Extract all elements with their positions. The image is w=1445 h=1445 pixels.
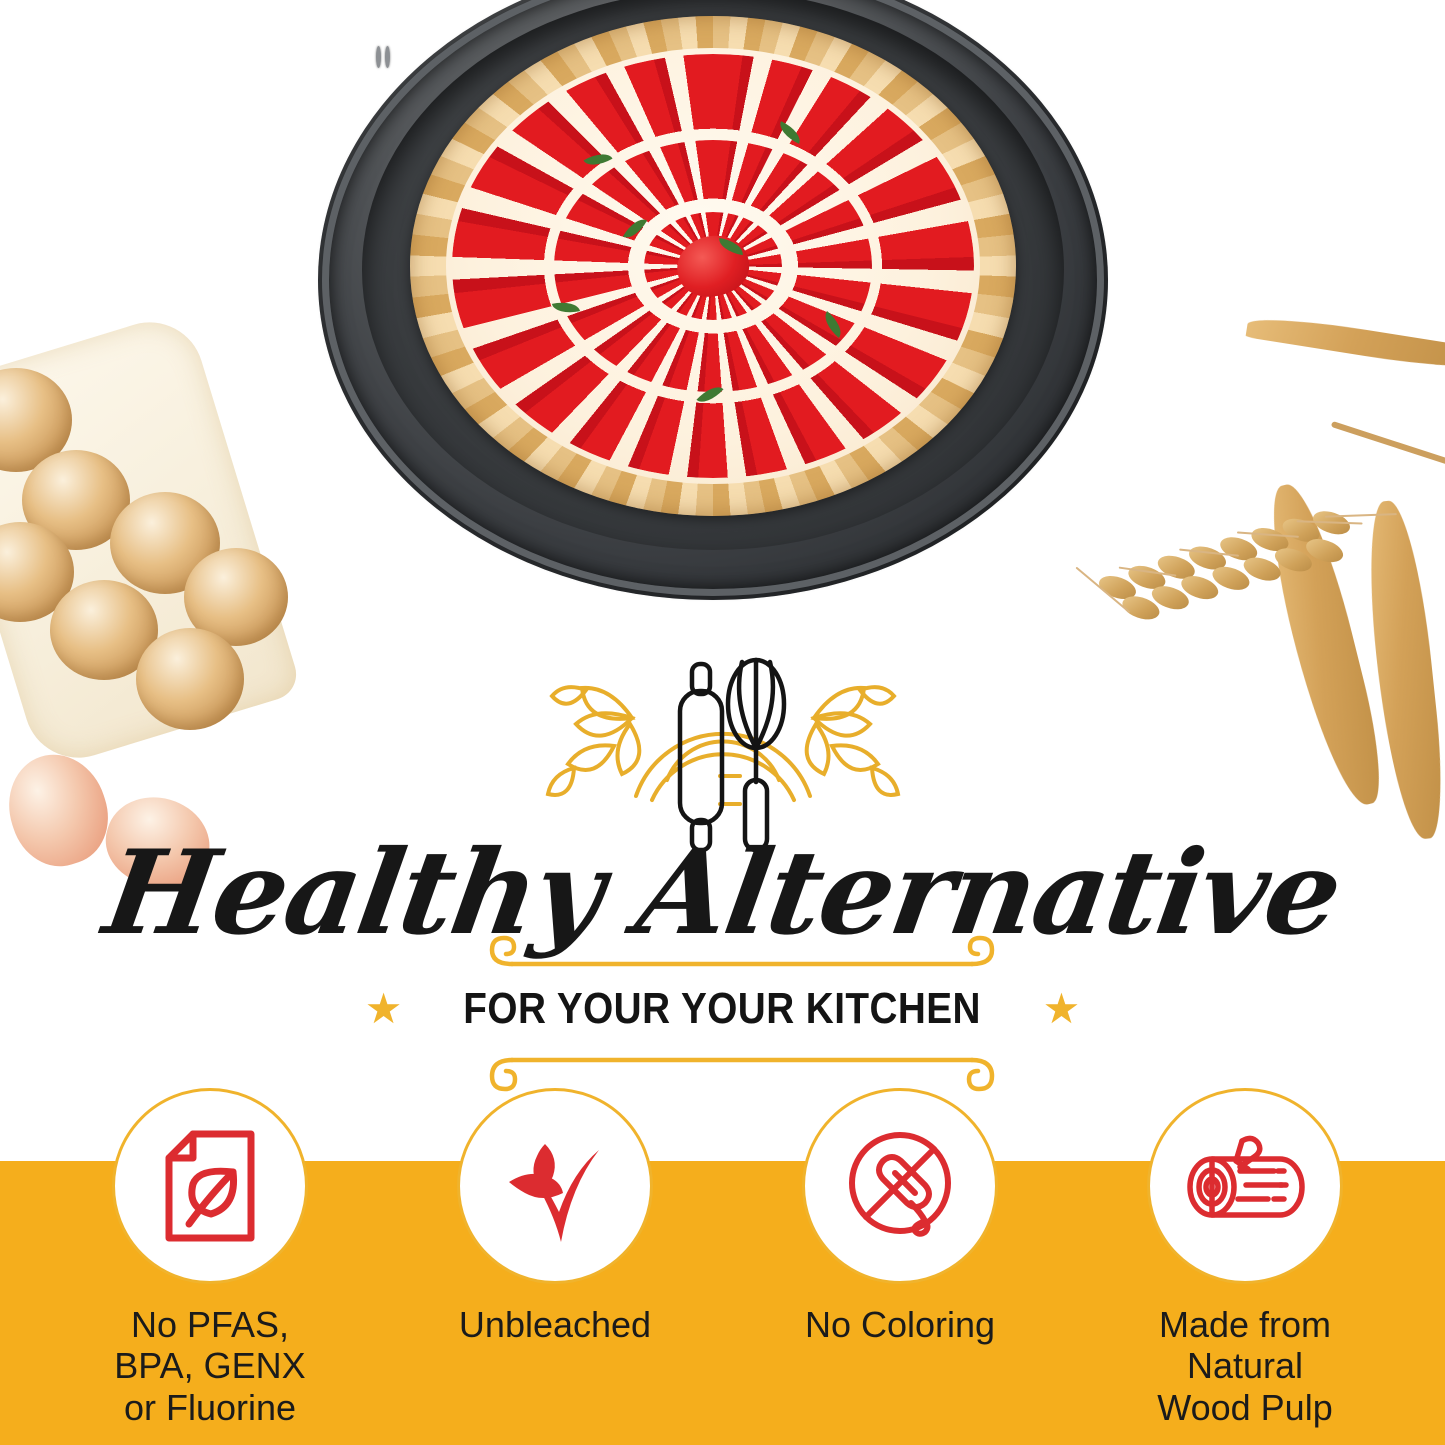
hero-product-photo	[318, 0, 1108, 600]
whisk-wire	[756, 662, 773, 748]
laurel-leaf	[807, 724, 829, 774]
wood-log-icon	[1182, 1131, 1308, 1241]
laurel-leaf	[552, 687, 586, 704]
star-right-icon: ★	[1043, 988, 1081, 1030]
laurel-leaf	[860, 687, 894, 704]
feature-icon-circle	[457, 1088, 653, 1284]
emblem-svg	[484, 628, 962, 853]
document-leaf-icon	[155, 1126, 265, 1246]
no-dropper-prohibited-icon	[839, 1125, 961, 1247]
baking-tools-emblem	[484, 628, 962, 853]
wheat-illustration	[1060, 340, 1445, 880]
feature-no-coloring: No Coloring	[795, 1088, 1005, 1345]
feature-badges: No PFAS, BPA, GENX or Fluorine Unbleache…	[0, 1088, 1445, 1445]
feature-label: Unbleached	[450, 1304, 660, 1345]
marketing-canvas: Healthy Alternative ★ FOR YOUR YOUR KITC…	[0, 0, 1445, 1445]
feature-icon-circle	[802, 1088, 998, 1284]
pan-clip-rivets	[376, 46, 390, 90]
headline-subtitle: FOR YOUR YOUR KITCHEN	[464, 984, 982, 1034]
egg-carton-illustration	[0, 330, 278, 890]
star-left-icon: ★	[365, 988, 403, 1030]
feature-label: Made from Natural Wood Pulp	[1140, 1304, 1350, 1428]
laurel-leaf	[618, 724, 640, 774]
egg	[136, 628, 244, 730]
feature-unbleached: Unbleached	[450, 1088, 660, 1345]
leaf-checkmark-icon	[495, 1126, 615, 1246]
feature-natural-wood-pulp: Made from Natural Wood Pulp	[1140, 1088, 1350, 1428]
feature-no-pfas: No PFAS, BPA, GENX or Fluorine	[105, 1088, 315, 1428]
laurel-leaf	[872, 768, 898, 795]
feature-label: No PFAS, BPA, GENX or Fluorine	[105, 1304, 315, 1428]
wheat-stalk	[1331, 421, 1445, 473]
feature-icon-circle	[112, 1088, 308, 1284]
springform-pan	[318, 0, 1108, 600]
feature-icon-circle	[1147, 1088, 1343, 1284]
tart-crust	[410, 16, 1016, 516]
laurel-leaf	[548, 768, 574, 795]
wheat-blade	[1245, 311, 1445, 374]
cream-filling	[446, 48, 980, 484]
flourish-divider-top	[482, 930, 1002, 970]
subtitle-row: ★ FOR YOUR YOUR KITCHEN ★	[0, 984, 1445, 1034]
feature-label: No Coloring	[795, 1304, 1005, 1345]
